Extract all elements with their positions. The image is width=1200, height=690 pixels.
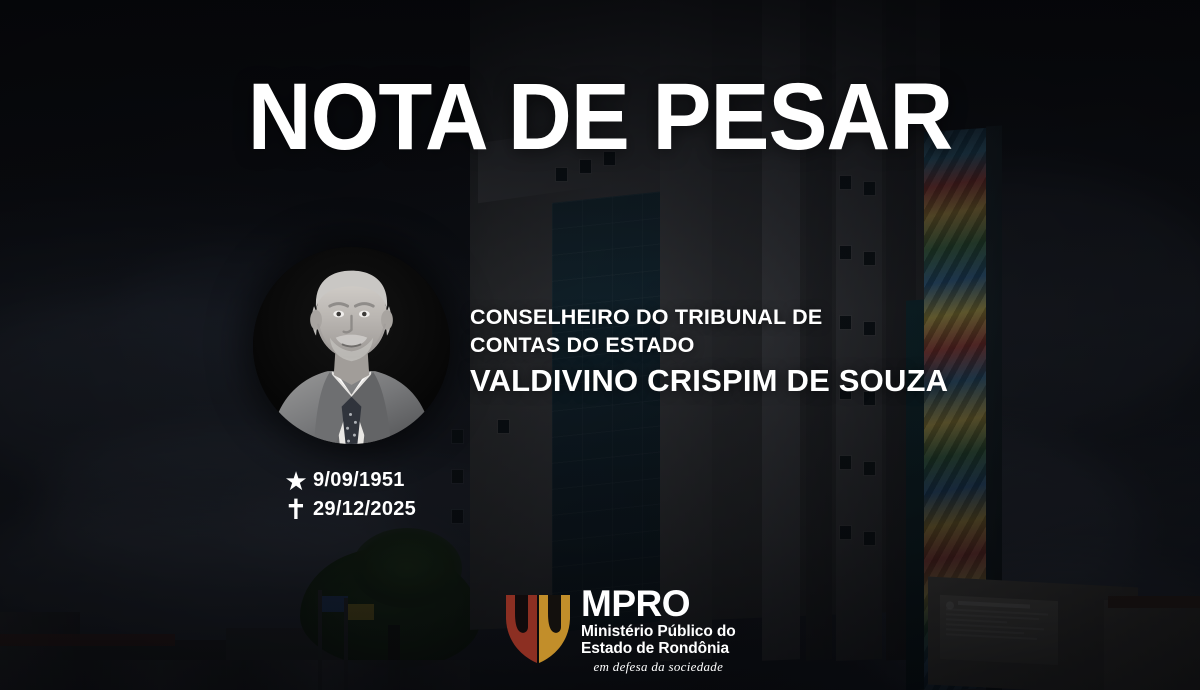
birth-date: 9/09/1951 [313, 469, 405, 492]
life-dates: ★ 9/09/1951 ✝ 29/12/2025 [279, 466, 416, 524]
subject-name: VALDIVINO CRISPIM DE SOUZA [470, 363, 948, 399]
cross-icon: ✝ [279, 496, 313, 524]
logo-subtitle-line-2: Estado de Rondônia [581, 641, 736, 658]
logo-wordmark: MPRO Ministério Público do Estado de Ron… [581, 585, 736, 673]
content-layer: NOTA DE PESAR [0, 0, 1200, 690]
logo-acronym: MPRO [581, 585, 736, 622]
star-icon: ★ [279, 468, 313, 494]
memorial-card: NOTA DE PESAR [0, 0, 1200, 690]
page-title: NOTA DE PESAR [42, 72, 1158, 162]
mpro-logo: MPRO Ministério Público do Estado de Ron… [505, 585, 736, 673]
logo-subtitle-line-1: Ministério Público do [581, 624, 736, 641]
logo-slogan: em defesa da sociedade [581, 660, 736, 673]
death-date: 29/12/2025 [313, 498, 416, 521]
birth-date-row: ★ 9/09/1951 [279, 466, 416, 495]
role-line-1: CONSELHEIRO DO TRIBUNAL DE [470, 303, 822, 331]
mpro-shield-icon [505, 593, 571, 665]
death-date-row: ✝ 29/12/2025 [279, 495, 416, 524]
portrait-illustration [253, 247, 450, 444]
role-line-2: CONTAS DO ESTADO [470, 331, 822, 359]
logo-subtitle: Ministério Público do Estado de Rondônia [581, 624, 736, 657]
subject-role: CONSELHEIRO DO TRIBUNAL DE CONTAS DO EST… [470, 303, 822, 360]
avatar [253, 247, 450, 444]
